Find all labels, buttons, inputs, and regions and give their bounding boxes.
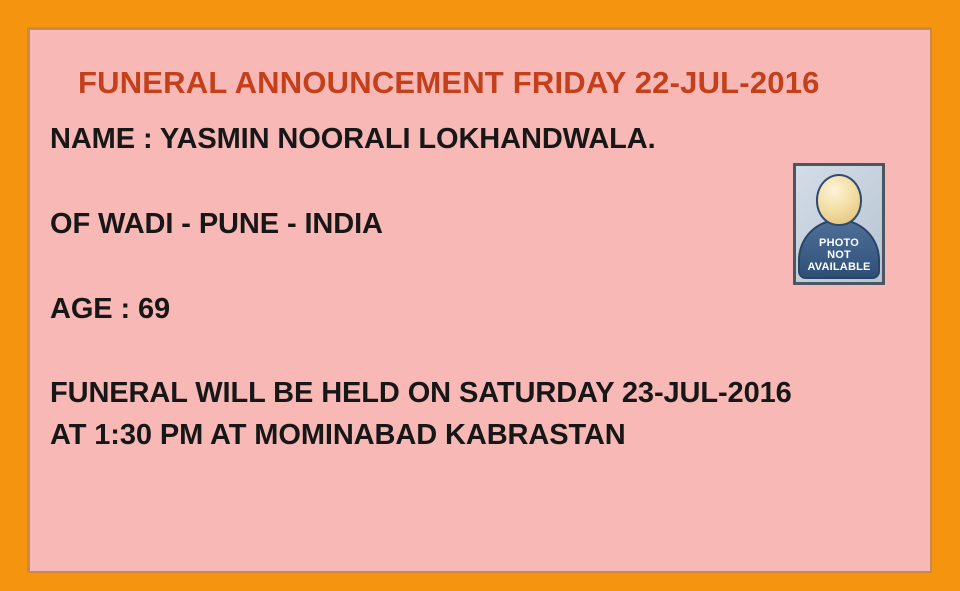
photo-caption-line-3: AVAILABLE <box>796 261 882 273</box>
photo-not-available-placeholder: PHOTO NOT AVAILABLE <box>793 163 885 285</box>
person-silhouette-head-icon <box>816 174 862 226</box>
announcement-title: FUNERAL ANNOUNCEMENT FRIDAY 22-JUL-2016 <box>78 63 898 103</box>
photo-caption-line-2: NOT <box>796 249 882 261</box>
deceased-name-line: NAME : YASMIN NOORALI LOKHANDWALA. <box>50 121 656 157</box>
photo-placeholder-caption: PHOTO NOT AVAILABLE <box>796 237 882 273</box>
deceased-age-line: AGE : 69 <box>50 291 170 327</box>
announcement-panel: FUNERAL ANNOUNCEMENT FRIDAY 22-JUL-2016 … <box>30 30 930 571</box>
funeral-details-line-1: FUNERAL WILL BE HELD ON SATURDAY 23-JUL-… <box>50 375 792 411</box>
deceased-origin-line: OF WADI - PUNE - INDIA <box>50 206 383 242</box>
funeral-details-line-2: AT 1:30 PM AT MOMINABAD KABRASTAN <box>50 417 626 453</box>
funeral-announcement-poster: FUNERAL ANNOUNCEMENT FRIDAY 22-JUL-2016 … <box>0 0 960 591</box>
photo-caption-line-1: PHOTO <box>796 237 882 249</box>
